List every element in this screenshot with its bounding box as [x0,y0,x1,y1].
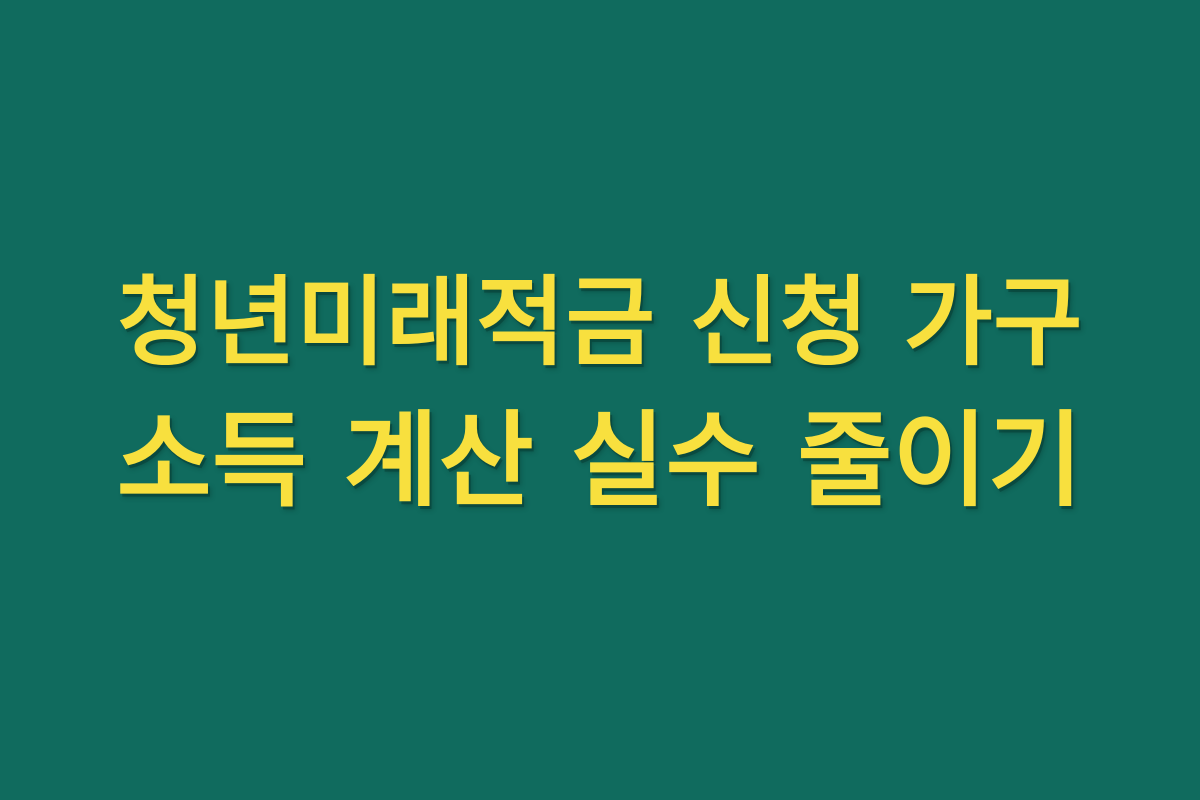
headline-line-1: 청년미래적금 신청 가구 [117,256,1083,390]
headline-line-2: 소득 계산 실수 줄이기 [117,390,1084,532]
headline-block: 청년미래적금 신청 가구 소득 계산 실수 줄이기 [70,256,1130,532]
poster-canvas: 청년미래적금 신청 가구 소득 계산 실수 줄이기 [0,0,1200,800]
